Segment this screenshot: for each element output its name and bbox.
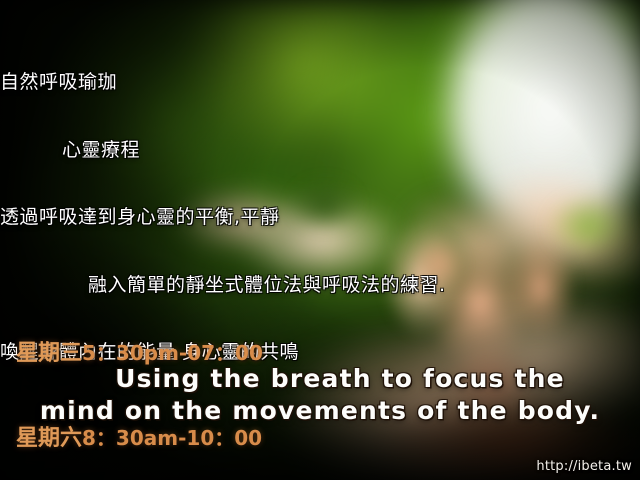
watermark-url: http://ibeta.tw bbox=[536, 459, 632, 474]
headline-line-1: 自然呼吸瑜珈 bbox=[0, 71, 640, 94]
schedule-time-2: 8：30am-10：00 bbox=[82, 426, 262, 450]
text-overlay-layer: 自然呼吸瑜珈 心靈療程 透過呼吸達到身心靈的平衡,平靜 融入簡單的靜坐式體位法與… bbox=[0, 0, 640, 480]
headline-line-3: 透過呼吸達到身心靈的平衡,平靜 bbox=[0, 206, 640, 229]
quote-block: Using the breath to focus the mind on th… bbox=[0, 363, 640, 427]
quote-line-2: mind on the movements of the body. bbox=[0, 395, 640, 427]
schedule-time-1: 5：30pm-07：00 bbox=[82, 341, 263, 365]
schedule-row: 星期六8：30am-10：00 bbox=[16, 424, 263, 453]
headline-line-2: 心靈療程 bbox=[0, 139, 640, 162]
quote-line-1: Using the breath to focus the bbox=[0, 363, 640, 395]
yoga-poster: 自然呼吸瑜珈 心靈療程 透過呼吸達到身心靈的平衡,平靜 融入簡單的靜坐式體位法與… bbox=[0, 0, 640, 480]
schedule-day-2: 星期六 bbox=[16, 426, 82, 451]
